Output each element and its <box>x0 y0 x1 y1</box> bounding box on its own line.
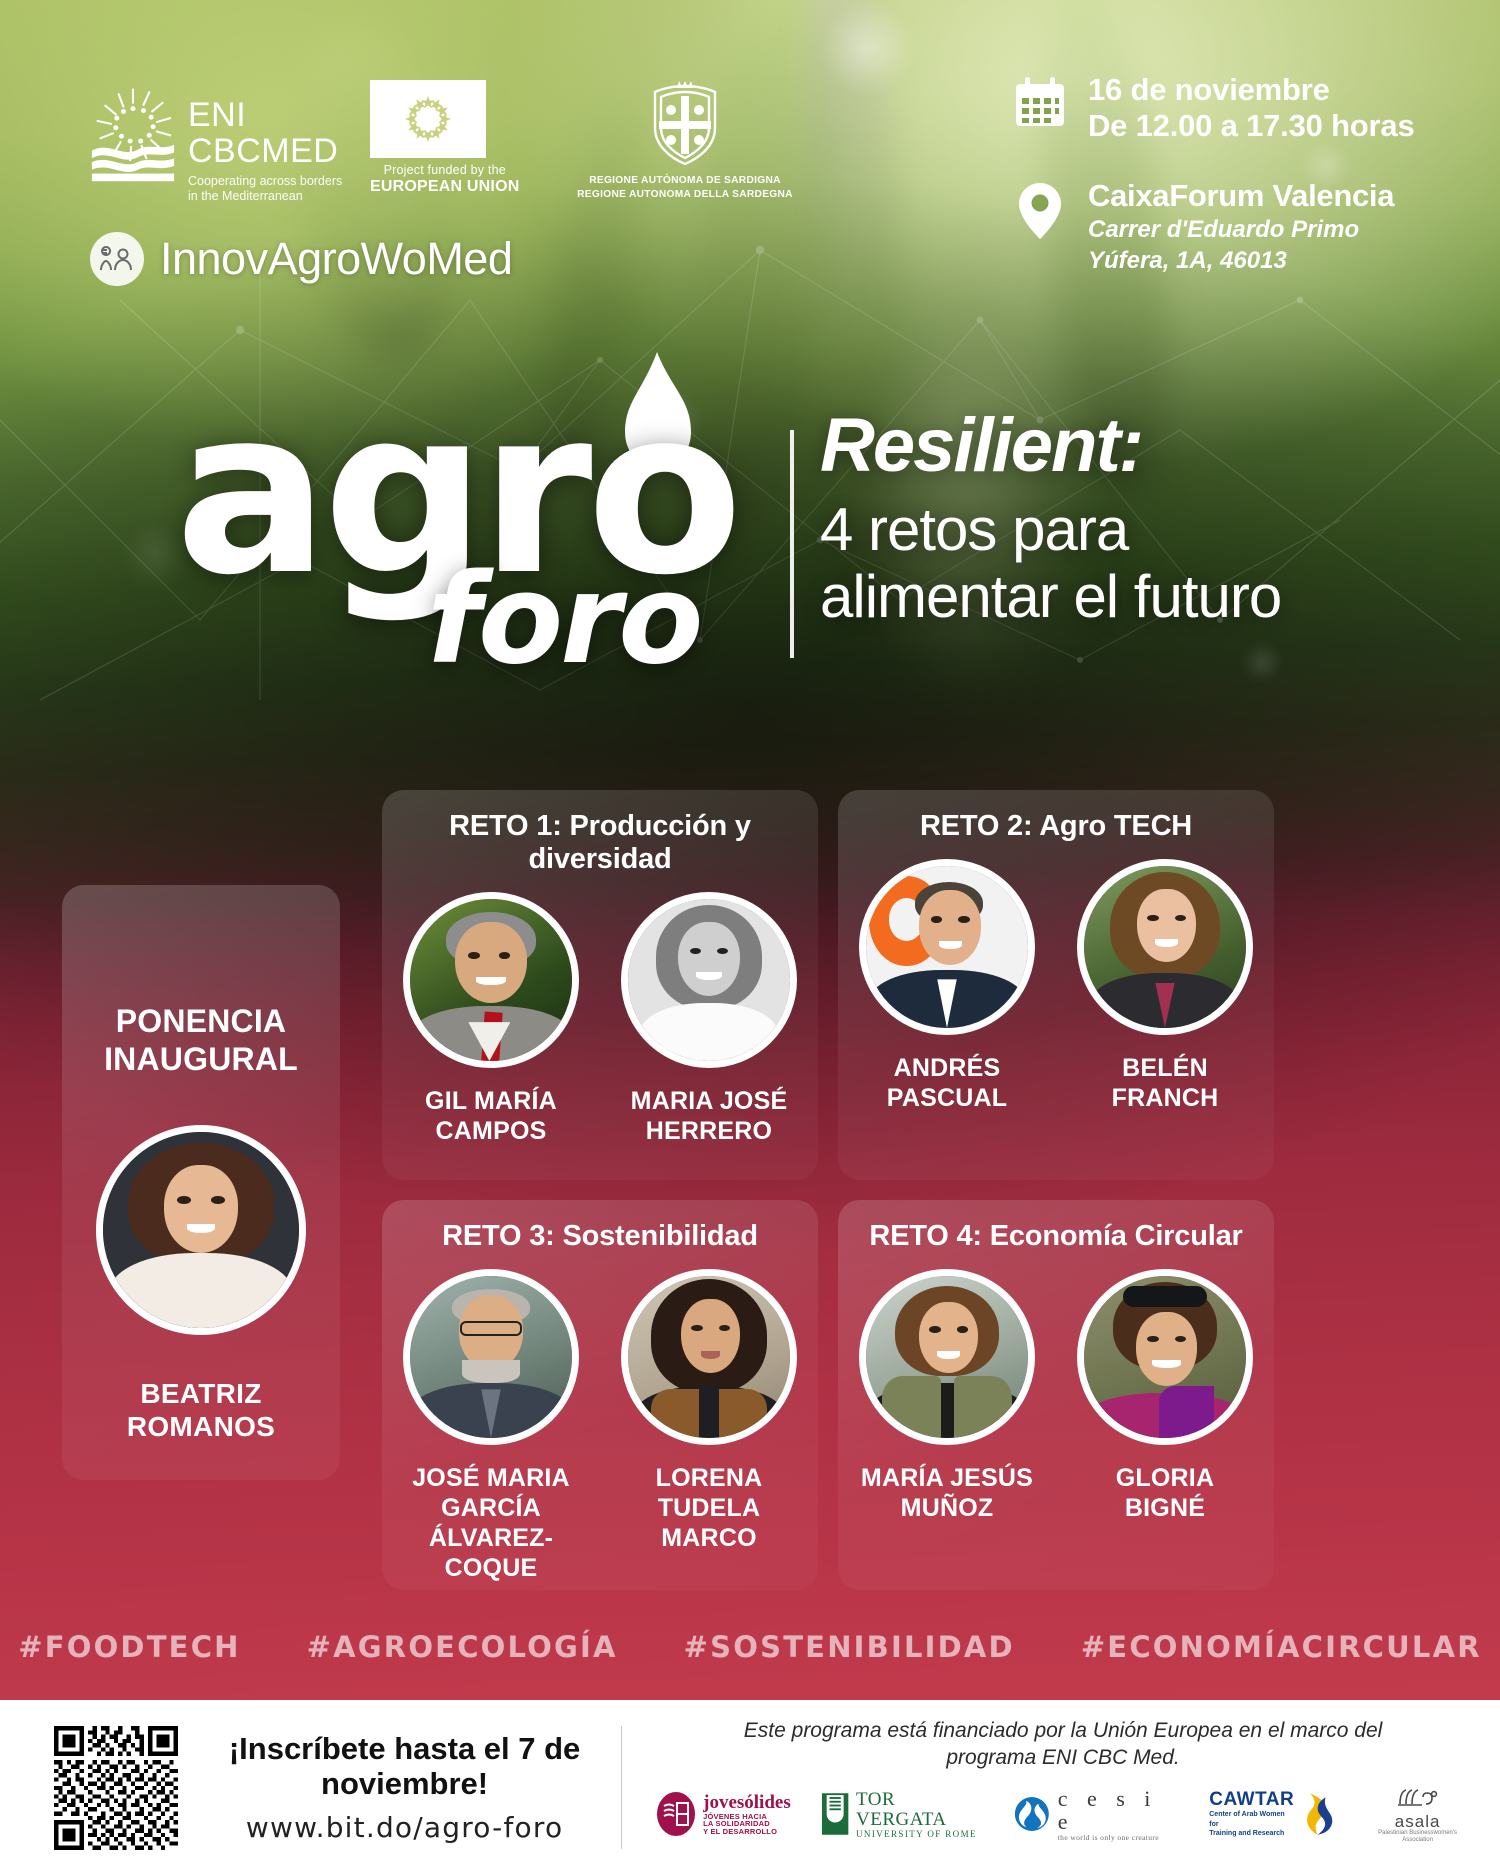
reto-3-heading: RETO 3: Sostenibilidad <box>382 1200 818 1253</box>
speaker-name-line1: JOSÉ MARIA GARCÍA <box>393 1463 589 1523</box>
registration-line2: noviembre! <box>202 1766 607 1801</box>
partner-logos: jovesólides JÓVENES HACIA LA SOLIDARIDAD… <box>656 1786 1470 1843</box>
partner-logo-asala: asala Palestinian Businesswomen's Associ… <box>1365 1786 1470 1843</box>
speaker-name-line1: GLORIA <box>1067 1463 1263 1493</box>
hashtag-foodtech: #FOODTECH <box>18 1630 240 1664</box>
partner-sub1: Center of Arab Women for <box>1209 1810 1294 1829</box>
event-address-line1: Carrer d'Eduardo Primo <box>1088 216 1442 245</box>
partner-sub1: the world is only one creature <box>1058 1834 1180 1842</box>
keynote-title-2: INAUGURAL <box>104 1041 298 1079</box>
eni-tagline-2: in the Mediterranean <box>188 189 342 204</box>
eni-line1: ENI <box>188 98 342 132</box>
keynote-title-1: PONENCIA <box>104 1003 298 1041</box>
keynote-speaker-photo <box>96 1125 306 1335</box>
eni-line2: CBCMED <box>188 134 342 168</box>
speaker-name-line2: MUÑOZ <box>849 1493 1045 1523</box>
innovagrowomed-label: InnovAgroWoMed <box>160 233 512 285</box>
sardegna-crest-icon <box>645 78 725 170</box>
speaker-name-line2: FRANCH <box>1067 1083 1263 1113</box>
speaker-belen-franch: BELÉN FRANCH <box>1067 859 1263 1113</box>
speaker-name-line2: BIGNÉ <box>1067 1493 1263 1523</box>
funding-line1: Este programa está financiado por la Uni… <box>744 1718 1383 1745</box>
poster-root: ENI CBCMED Cooperating across borders in… <box>0 0 1500 1875</box>
hero-subheadline-1: 4 retos para <box>820 496 1281 563</box>
partner-name: jovesólides <box>703 1793 791 1813</box>
partner-sub1: Palestinian Businesswomen's Association <box>1365 1830 1470 1843</box>
hero-section: agro foro Resilient: 4 retos para alimen… <box>0 330 1500 710</box>
sardegna-caption-2: REGIONE AUTONOMA DELLA SARDEGNA <box>570 188 800 202</box>
partner-name: CAWTAR <box>1209 1790 1294 1810</box>
speaker-name-line2: PASCUAL <box>849 1083 1045 1113</box>
cesie-icon <box>1013 1794 1051 1834</box>
funding-line2: programa ENI CBC Med. <box>744 1745 1383 1772</box>
partner-logo-jovesolides: jovesólides JÓVENES HACIA LA SOLIDARIDAD… <box>656 1791 791 1837</box>
speaker-name-line1: GIL MARÍA <box>393 1086 589 1116</box>
event-venue: CaixaForum Valencia <box>1088 178 1442 214</box>
registration-line1: ¡Inscríbete hasta el 7 de <box>202 1731 607 1766</box>
speaker-name-line1: ANDRÉS <box>849 1053 1045 1083</box>
partner-sub3: Y EL DESARROLLO <box>703 1828 791 1836</box>
speaker-andres-pascual: ANDRÉS PASCUAL <box>849 859 1045 1113</box>
partner-logo-tor-vergata: TOR VERGATA UNIVERSITY OF ROME <box>821 1790 983 1839</box>
speaker-jose-maria-garcia-alvarez-coque: JOSÉ MARIA GARCÍA ÁLVAREZ-COQUE <box>393 1269 589 1583</box>
speaker-name-line1: LORENA <box>611 1463 807 1493</box>
partner-logo-cawtar: CAWTAR Center of Arab Women for Training… <box>1209 1790 1335 1838</box>
reto-1-heading: RETO 1: Producción y diversidad <box>382 790 818 876</box>
speaker-photo <box>859 1269 1035 1445</box>
speaker-name-line2: TUDELA MARCO <box>611 1493 807 1553</box>
cawtar-ribbon-icon <box>1302 1791 1336 1837</box>
reto-4-heading: RETO 4: Economía Circular <box>838 1200 1274 1253</box>
hashtag-sostenibilidad: #SOSTENIBILIDAD <box>684 1630 1015 1664</box>
partner-sub1: UNIVERSITY OF ROME <box>856 1830 983 1839</box>
hero-subheadline-2: alimentar el futuro <box>820 563 1281 630</box>
speaker-photo <box>1077 1269 1253 1445</box>
speaker-name-line2: ÁLVAREZ-COQUE <box>393 1523 589 1583</box>
eu-caption-2: EUROPEAN UNION <box>370 178 519 196</box>
speaker-photo <box>403 892 579 1068</box>
partner-name: c e s i e <box>1058 1787 1180 1833</box>
asala-arabic-icon <box>1396 1786 1440 1808</box>
speaker-gil-maria-campos: GIL MARÍA CAMPOS <box>393 892 589 1146</box>
footer-registration-block: ¡Inscríbete hasta el 7 de noviembre! www… <box>0 1700 621 1875</box>
footer-bar: ¡Inscríbete hasta el 7 de noviembre! www… <box>0 1700 1500 1875</box>
reto-card-1: RETO 1: Producción y diversidad <box>382 790 818 1180</box>
hero-divider <box>790 430 794 658</box>
event-date-row: 16 de noviembre De 12.00 a 17.30 horas <box>1012 72 1442 144</box>
eni-tagline-1: Cooperating across borders <box>188 174 342 189</box>
speaker-lorena-tudela-marco: LORENA TUDELA MARCO <box>611 1269 807 1583</box>
sardegna-caption-1: REGIONE AUTÒNOMA DE SARDIGNA <box>570 174 800 188</box>
keynote-card: PONENCIA INAUGURAL BEATRIZ ROMANOS <box>62 885 340 1480</box>
speaker-name-line1: MARÍA JESÚS <box>849 1463 1045 1493</box>
event-info-block: 16 de noviembre De 12.00 a 17.30 horas C… <box>1012 72 1442 275</box>
reto-2-heading: RETO 2: Agro TECH <box>838 790 1274 843</box>
logo-regione-sardegna: REGIONE AUTÒNOMA DE SARDIGNA REGIONE AUT… <box>570 78 800 202</box>
logo-eni-cbcmed: ENI CBCMED Cooperating across borders in… <box>90 78 342 205</box>
eu-caption-1: Project funded by the <box>370 163 519 177</box>
people-icon <box>90 232 144 286</box>
speaker-name-line2: CAMPOS <box>393 1116 589 1146</box>
speaker-photo <box>621 892 797 1068</box>
speaker-name-line1: BELÉN <box>1067 1053 1263 1083</box>
qr-code[interactable] <box>54 1726 178 1850</box>
partner-logo-cesie: c e s i e the world is only one creature <box>1013 1787 1179 1841</box>
hashtag-row: #FOODTECH #AGROECOLOGÍA #SOSTENIBILIDAD … <box>0 1630 1500 1664</box>
hashtag-economiacircular: #ECONOMÍACIRCULAR <box>1081 1630 1482 1664</box>
event-time: De 12.00 a 17.30 horas <box>1088 108 1442 144</box>
event-date: 16 de noviembre <box>1088 72 1442 108</box>
reto-card-2: RETO 2: Agro TECH <box>838 790 1274 1180</box>
partner-name: asala <box>1365 1813 1470 1831</box>
event-address-line2: Yúfera, 1A, 46013 <box>1088 247 1442 276</box>
speaker-name-line2: HERRERO <box>611 1116 807 1146</box>
keynote-speaker-name-2: ROMANOS <box>127 1410 275 1444</box>
speaker-photo <box>859 859 1035 1035</box>
eni-cbcmed-text: ENI CBCMED Cooperating across borders in… <box>188 78 342 205</box>
speaker-photo <box>1077 859 1253 1035</box>
map-pin-icon <box>1012 178 1068 240</box>
speaker-gloria-bigne: GLORIA BIGNÉ <box>1067 1269 1263 1523</box>
jovesolides-icon <box>656 1791 696 1837</box>
speaker-name-line1: MARIA JOSÉ <box>611 1086 807 1116</box>
tor-vergata-icon <box>821 1791 849 1837</box>
speaker-photo <box>621 1269 797 1445</box>
keynote-speaker-name-1: BEATRIZ <box>127 1377 275 1411</box>
partner-name: TOR VERGATA <box>856 1790 983 1830</box>
speaker-maria-jesus-munoz: MARÍA JESÚS MUÑOZ <box>849 1269 1045 1523</box>
event-location-row: CaixaForum Valencia Carrer d'Eduardo Pri… <box>1012 178 1442 276</box>
brand-foro: foro <box>427 558 700 682</box>
speaker-maria-jose-herrero: MARIA JOSÉ HERRERO <box>611 892 807 1146</box>
reto-card-4: RETO 4: Economía Circular <box>838 1200 1274 1590</box>
logo-innovagrowomed: InnovAgroWoMed <box>90 232 512 286</box>
hero-headline: Resilient: <box>820 408 1281 484</box>
eni-cbcmed-icon <box>90 78 176 183</box>
hashtag-agroecologia: #AGROECOLOGÍA <box>307 1630 618 1664</box>
speaker-photo <box>403 1269 579 1445</box>
registration-url[interactable]: www.bit.do/agro-foro <box>202 1811 607 1844</box>
calendar-icon <box>1012 72 1068 128</box>
logo-european-union: Project funded by the EUROPEAN UNION <box>370 80 519 196</box>
agroforo-logo: agro foro <box>175 350 795 710</box>
partner-sub2: Training and Research <box>1209 1829 1294 1838</box>
eu-flag-icon <box>370 80 486 158</box>
hero-headline-block: Resilient: 4 retos para alimentar el fut… <box>820 408 1281 630</box>
footer-funding-block: Este programa está financiado por la Uni… <box>622 1700 1500 1875</box>
reto-card-3: RETO 3: Sostenibilidad JOSÉ MARIA GARC <box>382 1200 818 1590</box>
